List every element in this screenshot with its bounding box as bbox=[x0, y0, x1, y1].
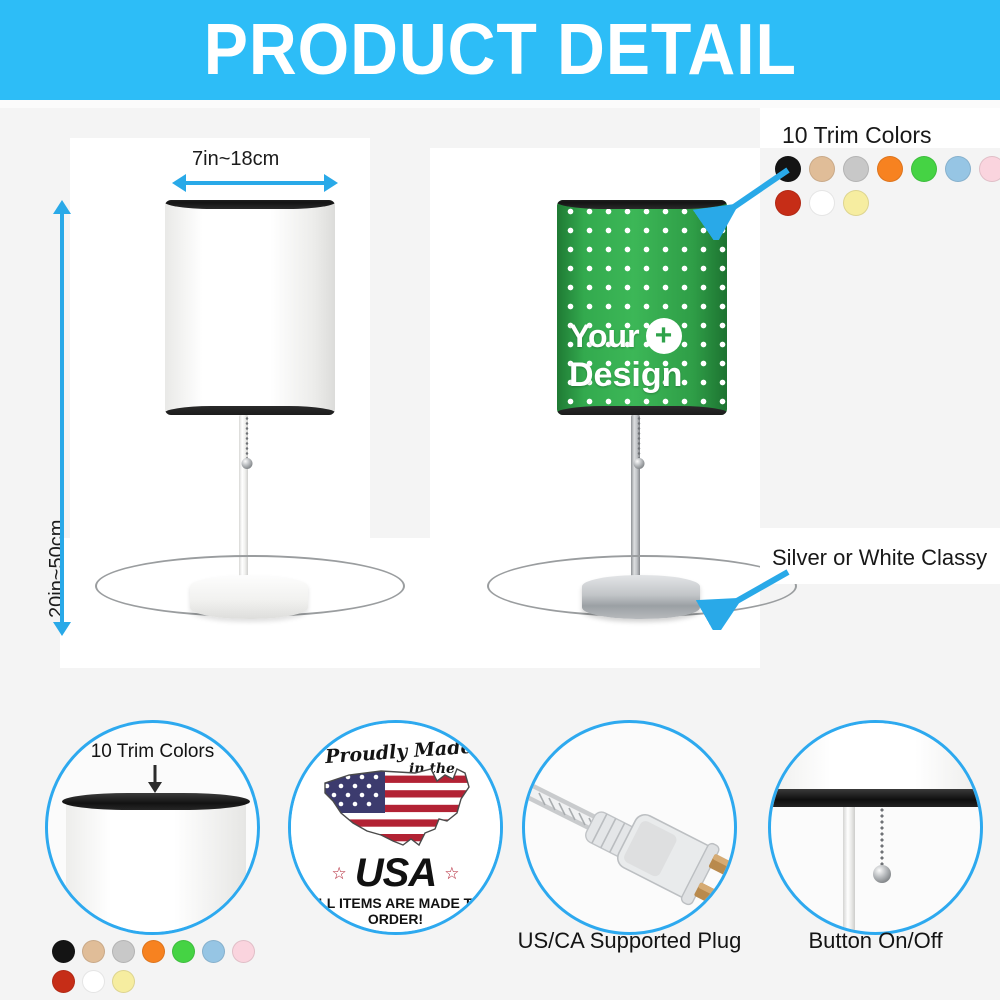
plus-icon: + bbox=[646, 318, 682, 354]
trim-swatch-tan[interactable] bbox=[82, 940, 105, 963]
trim-swatch-white[interactable] bbox=[82, 970, 105, 993]
trim-swatch-pale-yellow[interactable] bbox=[112, 970, 135, 993]
trim-swatch-gray[interactable] bbox=[843, 156, 869, 182]
star-left-icon: ☆ bbox=[332, 864, 347, 884]
card1-shade-graphic bbox=[66, 801, 246, 935]
trim-swatch-pink[interactable] bbox=[232, 940, 255, 963]
pull-chain-green-lamp[interactable] bbox=[632, 416, 646, 470]
trim-swatch-light-blue[interactable] bbox=[202, 940, 225, 963]
lamp-base-white bbox=[190, 575, 308, 619]
width-dimension-arrow bbox=[185, 181, 325, 185]
chain-pull-ball bbox=[242, 458, 253, 469]
trim-swatch-tan[interactable] bbox=[809, 156, 835, 182]
height-dimension-label: 20in~50cm bbox=[46, 520, 69, 618]
trim-swatch-light-blue[interactable] bbox=[945, 156, 971, 182]
feature-callout-row: 10 Trim Colors Proudly Made in the bbox=[0, 700, 1000, 1000]
card-plug-caption: US/CA Supported Plug bbox=[492, 928, 767, 954]
us-plug-icon bbox=[525, 723, 737, 935]
width-dimension-label: 7in~18cm bbox=[192, 148, 279, 171]
main-product-stage: 7in~18cm 20in~50cm Your bbox=[0, 108, 1000, 700]
page-header-banner: PRODUCT DETAIL bbox=[0, 0, 1000, 100]
card-plug[interactable] bbox=[522, 720, 737, 935]
chain-line bbox=[246, 416, 249, 460]
trim-colors-heading: 10 Trim Colors bbox=[782, 122, 932, 149]
base-finish-callout-arrow bbox=[690, 560, 800, 630]
plus-glyph: + bbox=[655, 321, 673, 351]
card1-inner-label: 10 Trim Colors bbox=[48, 741, 257, 763]
trim-swatch-red[interactable] bbox=[52, 970, 75, 993]
trim-swatch-gray[interactable] bbox=[112, 940, 135, 963]
banner-underline bbox=[0, 100, 1000, 108]
trim-swatch-white[interactable] bbox=[809, 190, 835, 216]
card4-shade-graphic bbox=[768, 720, 983, 791]
trim-swatch-pink[interactable] bbox=[979, 156, 1000, 182]
card4-trim-bar bbox=[768, 789, 983, 807]
design-line-1: Your bbox=[569, 320, 640, 352]
chain-line bbox=[638, 416, 641, 460]
pull-chain-white-lamp[interactable] bbox=[240, 416, 254, 470]
card1-swatch-list bbox=[52, 940, 282, 993]
usa-country: USA bbox=[355, 851, 436, 896]
chain-pull-ball bbox=[873, 865, 891, 883]
card-trim-colors[interactable]: 10 Trim Colors bbox=[45, 720, 260, 935]
chain-pull-ball bbox=[634, 458, 645, 469]
lamp-shade-white bbox=[165, 200, 335, 415]
shade-trim-bottom bbox=[557, 406, 727, 415]
trim-swatch-black[interactable] bbox=[52, 940, 75, 963]
trim-swatch-green[interactable] bbox=[172, 940, 195, 963]
design-text-block: Your + Design bbox=[569, 318, 719, 392]
trim-swatch-pale-yellow[interactable] bbox=[843, 190, 869, 216]
usa-map-flag-icon bbox=[319, 761, 479, 856]
card-switch-caption: Button On/Off bbox=[758, 928, 993, 954]
shade-trim-top bbox=[165, 200, 335, 209]
shade-trim-bottom bbox=[165, 406, 335, 415]
design-line-2: Design bbox=[569, 358, 719, 392]
card4-pole bbox=[843, 807, 855, 935]
usa-country-row: ☆ USA ☆ bbox=[291, 851, 500, 896]
card1-trim-bar bbox=[62, 793, 250, 810]
star-right-icon: ☆ bbox=[444, 864, 459, 884]
lamp-base-silver bbox=[582, 575, 700, 619]
chain-line bbox=[880, 807, 884, 869]
height-dimension-arrow bbox=[60, 213, 64, 623]
shade-trim-top bbox=[557, 200, 727, 209]
page-title: PRODUCT DETAIL bbox=[203, 14, 796, 86]
usa-tagline: ALL ITEMS ARE MADE TO ORDER! bbox=[291, 895, 500, 927]
lamp-white-blank bbox=[155, 200, 345, 640]
shade-surface bbox=[165, 200, 335, 415]
trim-swatch-orange[interactable] bbox=[142, 940, 165, 963]
usa-badge: Proudly Made in the bbox=[291, 723, 500, 932]
card-switch[interactable] bbox=[768, 720, 983, 935]
card-made-in-usa[interactable]: Proudly Made in the bbox=[288, 720, 503, 935]
card1-down-arrow-icon bbox=[144, 765, 166, 793]
base-finish-label: Silver or White Classy bbox=[772, 545, 987, 571]
card4-pull-chain[interactable] bbox=[875, 807, 889, 885]
trim-swatch-green[interactable] bbox=[911, 156, 937, 182]
trim-swatch-orange[interactable] bbox=[877, 156, 903, 182]
trim-color-swatch-list bbox=[775, 156, 1000, 216]
